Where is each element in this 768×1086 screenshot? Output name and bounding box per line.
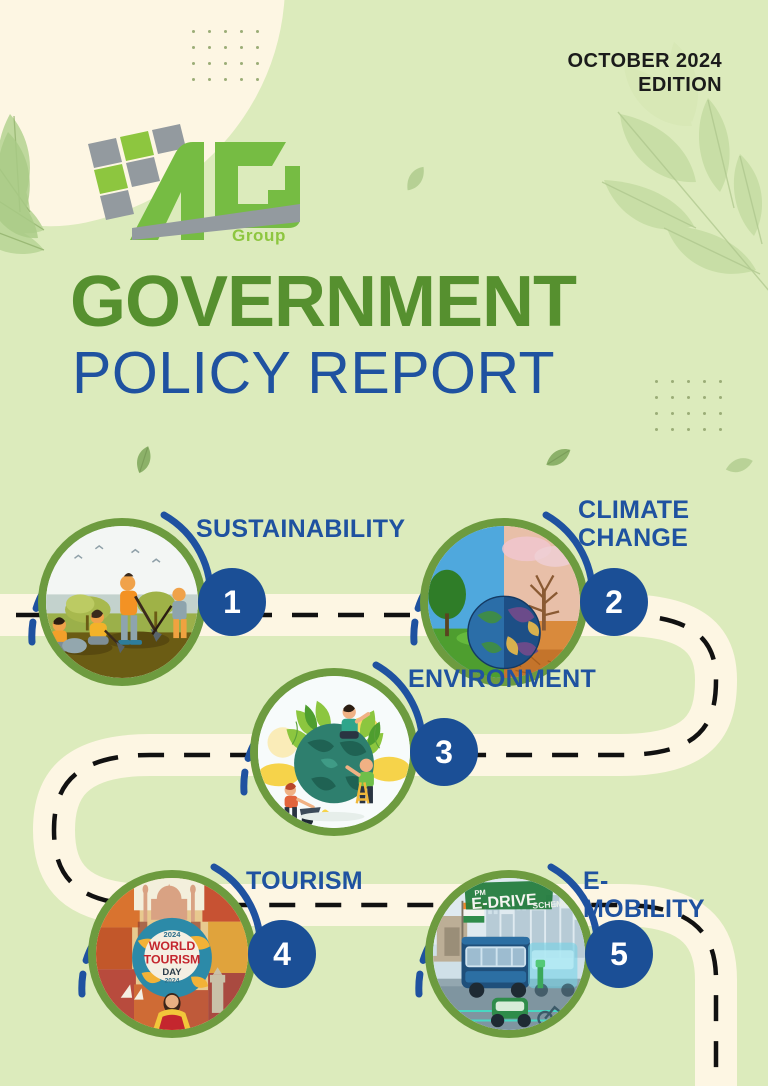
dot	[703, 412, 706, 415]
page-subtitle: POLICY REPORT	[72, 344, 555, 403]
node-2-label: CLIMATE CHANGE	[578, 496, 689, 552]
dot	[256, 46, 259, 49]
dot	[687, 412, 690, 415]
node-3-label: ENVIRONMENT	[408, 665, 596, 693]
leaf-icon	[543, 441, 575, 473]
dot	[687, 396, 690, 399]
dot	[192, 78, 195, 81]
dot	[703, 428, 706, 431]
node-4-image: 2024 WORLD TOURISM DAY 2024	[88, 870, 256, 1038]
roadmap: 1 SUSTAINABILITY	[0, 470, 768, 1086]
edition-label: OCTOBER 2024 EDITION	[568, 50, 723, 97]
node-4-label: TOURISM	[246, 867, 363, 895]
dot	[208, 78, 211, 81]
dot	[256, 78, 259, 81]
dot	[208, 46, 211, 49]
dot	[240, 62, 243, 65]
logo-subtext: Group	[232, 226, 286, 246]
svg-text:TOURISM: TOURISM	[144, 953, 201, 967]
page-title: GOVERNMENT	[70, 266, 576, 338]
edition-line-1: OCTOBER 2024	[568, 50, 723, 74]
dot	[687, 380, 690, 383]
dot	[224, 62, 227, 65]
dot	[719, 428, 722, 431]
report-cover-page: OCTOBER 2024 EDITION Group GOVERNMENT PO…	[0, 0, 768, 1086]
node-4-badge[interactable]: 4	[248, 920, 316, 988]
dot	[192, 46, 195, 49]
node-5-label: E-MOBILITY	[583, 867, 705, 923]
svg-text:2024: 2024	[164, 930, 182, 939]
dot	[671, 396, 674, 399]
dot	[192, 30, 195, 33]
node-5-image: PM E-DRIVE SCHEME	[425, 870, 593, 1038]
dot	[719, 412, 722, 415]
dot	[655, 428, 658, 431]
dot	[655, 380, 658, 383]
dot	[240, 46, 243, 49]
dot	[719, 396, 722, 399]
dot	[671, 412, 674, 415]
dot	[208, 30, 211, 33]
dot	[655, 396, 658, 399]
dot	[719, 380, 722, 383]
dot	[208, 62, 211, 65]
dot	[192, 62, 195, 65]
dot	[671, 428, 674, 431]
dot	[240, 30, 243, 33]
node-1-badge[interactable]: 1	[198, 568, 266, 636]
dot	[703, 380, 706, 383]
node-3-badge[interactable]: 3	[410, 718, 478, 786]
svg-text:DAY: DAY	[162, 967, 182, 978]
leaf-icon	[0, 130, 80, 250]
dot	[256, 62, 259, 65]
node-1-image	[38, 518, 206, 686]
node-2-badge[interactable]: 2	[580, 568, 648, 636]
dot	[224, 46, 227, 49]
dot	[655, 412, 658, 415]
dot	[671, 380, 674, 383]
node-5-badge[interactable]: 5	[585, 920, 653, 988]
dot	[256, 30, 259, 33]
leaf-icon	[401, 163, 430, 192]
node-3-image	[250, 668, 418, 836]
dot	[224, 30, 227, 33]
node-1-label: SUSTAINABILITY	[196, 515, 405, 543]
leaf-branch-icon	[584, 96, 768, 296]
dot	[240, 78, 243, 81]
dot	[687, 428, 690, 431]
edition-line-2: EDITION	[568, 74, 723, 98]
svg-text:2024: 2024	[165, 978, 180, 985]
svg-text:WORLD: WORLD	[149, 939, 196, 953]
dot	[224, 78, 227, 81]
dot	[703, 396, 706, 399]
